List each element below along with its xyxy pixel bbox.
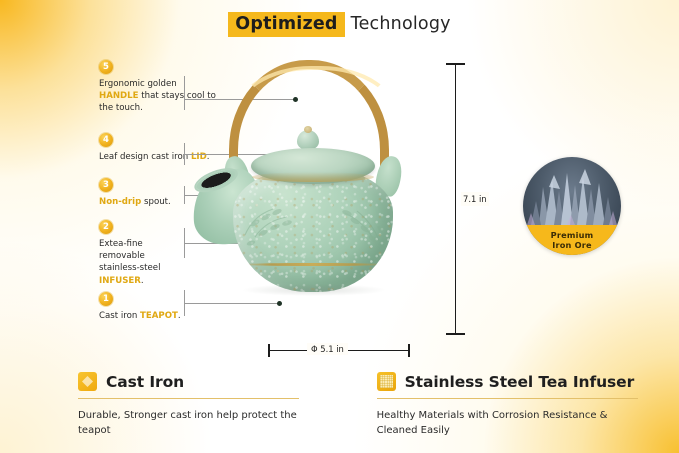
leaf-pattern-icon [233,173,393,251]
iron-ore-label-line1: Premium [551,230,594,240]
feature-text-1: Cast iron TEAPOT. [99,310,181,322]
bottom-section-cast-iron: Cast Iron Durable, Stronger cast iron he… [78,372,299,438]
teapot-lid [251,148,375,184]
height-dimension-label: 7.1 in [461,192,489,206]
bottom-title-cast-iron: Cast Iron [106,373,184,391]
mesh-infuser-icon [377,372,396,391]
feature-keyword-infuser: INFUSER [99,276,141,286]
feature-badge-5: 5 [99,60,113,74]
bottom-body-cast-iron: Durable, Stronger cast iron help protect… [78,408,299,438]
diameter-cap-left [268,344,270,357]
feature-keyword-teapot: TEAPOT [140,311,178,321]
title-highlight: Optimized [228,12,344,37]
height-cap-bottom [446,333,465,335]
feature-item-2: 2 Extea-fineremovablestainless-steelINFU… [99,220,161,287]
teapot-shadow [243,284,385,296]
teapot-lid-knob [297,130,319,150]
feature-badge-4: 4 [99,133,113,147]
height-dimension-line [455,63,456,335]
title-line: OptimizedTechnology [228,14,450,34]
feature-item-1: 1 Cast iron TEAPOT. [99,292,181,322]
bottom-body-infuser: Healthy Materials with Corrosion Resista… [377,408,638,438]
feature-text-3: Non-drip spout. [99,196,171,208]
bottom-divider-infuser [377,398,638,399]
infographic-canvas: OptimizedTechnology 5 Ergonomic golden H… [0,0,679,453]
premium-iron-ore-badge: Premium Iron Ore [523,157,621,255]
diameter-dimension-label: Φ 5.1 in [307,343,348,355]
feature-keyword-nondrip: Non-drip [99,197,141,207]
teapot-lid-rim [252,172,374,182]
diameter-cap-right [408,344,410,357]
height-cap-top [446,63,465,65]
feature-badge-2: 2 [99,220,113,234]
page-title: OptimizedTechnology [0,14,679,34]
teapot-product-image [185,52,435,347]
bottom-divider-cast-iron [78,398,299,399]
teapot-gold-band [239,263,386,266]
bottom-feature-sections: Cast Iron Durable, Stronger cast iron he… [78,372,638,438]
feature-badge-3: 3 [99,178,113,192]
feature-item-3: 3 Non-drip spout. [99,178,171,208]
feature-keyword-handle: HANDLE [99,91,139,101]
teapot-body [233,167,393,292]
teapot-spout-opening [194,166,239,195]
cast-iron-icon [78,372,97,391]
title-rest: Technology [345,14,451,34]
bottom-heading-cast-iron: Cast Iron [78,372,299,391]
feature-badge-1: 1 [99,292,113,306]
iron-ore-crystals-icon [523,157,621,227]
iron-ore-label: Premium Iron Ore [523,225,621,255]
bottom-title-infuser: Stainless Steel Tea Infuser [405,373,635,391]
feature-text-2: Extea-fineremovablestainless-steelINFUSE… [99,238,161,287]
iron-ore-label-line2: Iron Ore [552,240,592,250]
bottom-heading-infuser: Stainless Steel Tea Infuser [377,372,638,391]
bottom-section-infuser: Stainless Steel Tea Infuser Healthy Mate… [377,372,638,438]
